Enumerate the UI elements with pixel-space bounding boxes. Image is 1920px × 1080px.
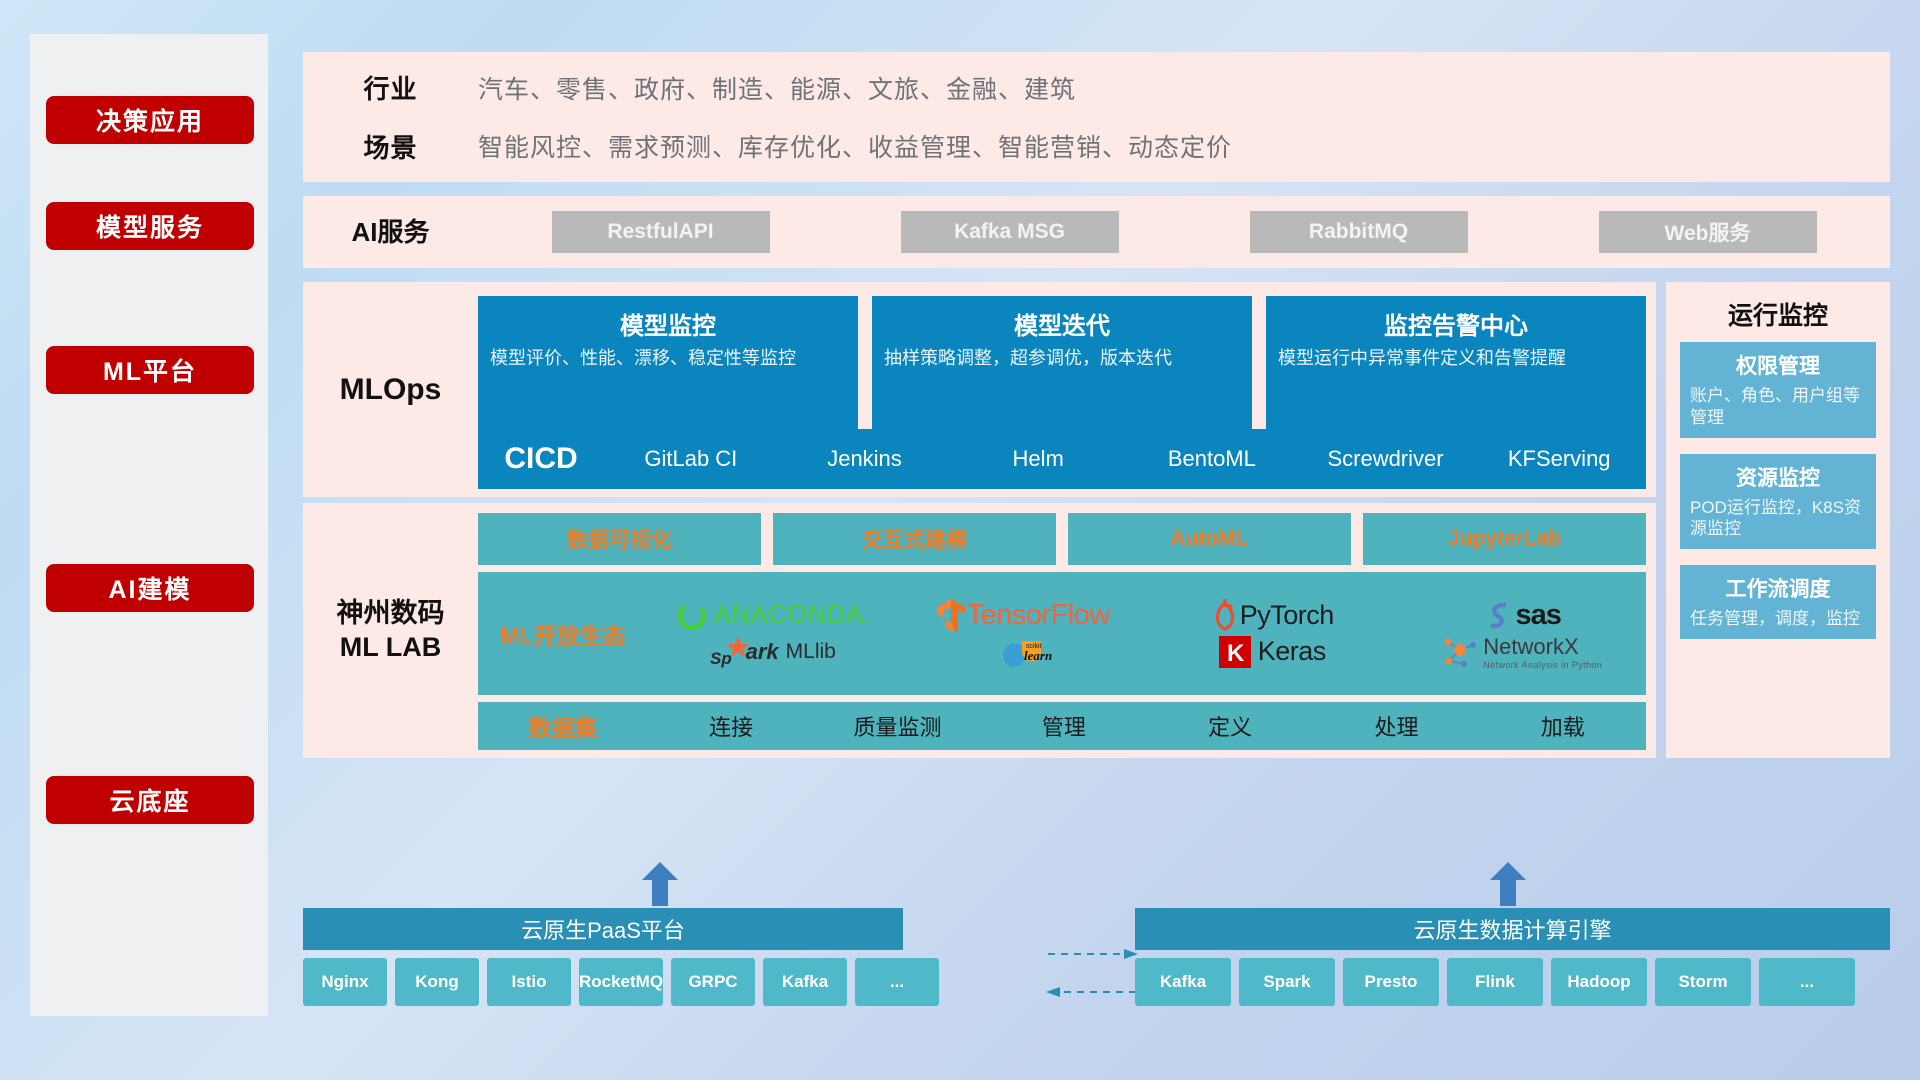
card-desc: 模型运行中异常事件定义和告警提醒 (1278, 347, 1634, 370)
chip-label: Flink (1475, 973, 1515, 991)
rail-item-label: 模型服务 (96, 208, 204, 244)
mlops-band: MLOps 模型监控 模型评价、性能、漂移、稳定性等监控 模型迭代 抽样策略调整… (303, 282, 1656, 497)
engine-chip-spark[interactable]: Spark (1239, 958, 1335, 1006)
cicd-item-gitlab-ci[interactable]: GitLab CI (604, 446, 778, 471)
chip-label: Nginx (321, 973, 368, 991)
paas-chips: Nginx Kong Istio RocketMQ GRPC Kafka ... (303, 958, 939, 1006)
monitor-card-resource[interactable]: 资源监控 POD运行监控，K8S资源监控 (1680, 454, 1876, 550)
networkx-wordmark: NetworkX (1483, 634, 1578, 660)
card-desc: POD运行监控，K8S资源监控 (1690, 497, 1866, 541)
chip-label: Web服务 (1665, 217, 1751, 247)
scenario-label: 场景 (363, 128, 417, 165)
card-title: 模型监控 (490, 306, 846, 341)
dataset-item-define[interactable]: 定义 (1147, 710, 1313, 742)
lab-tool-jupyterlab[interactable]: JupyterLab (1363, 513, 1646, 565)
chip-label: Kafka (782, 973, 828, 991)
paas-platform-bar[interactable]: 云原生PaaS平台 (303, 908, 903, 950)
sas-logo: sas (1482, 599, 1561, 633)
chip-label: ... (890, 973, 904, 991)
chip-label: RabbitMQ (1309, 220, 1408, 244)
ai-service-chip-restfulapi[interactable]: RestfulAPI (552, 211, 770, 253)
ai-service-label: AI服务 (303, 216, 478, 249)
tool-label: 数据可视化 (567, 524, 672, 554)
rail-item-ai-modeling[interactable]: AI建模 (46, 564, 254, 612)
lab-tool-interactive-modeling[interactable]: 交互式建模 (773, 513, 1056, 565)
lab-tool-automl[interactable]: AutoML (1068, 513, 1351, 565)
tensorflow-logo: TensorFlow (935, 598, 1110, 634)
anaconda-wordmark: ANACONDA. (714, 601, 872, 630)
chip-label: Kafka (1160, 973, 1206, 991)
engine-chip-hadoop[interactable]: Hadoop (1551, 958, 1647, 1006)
svg-text:K: K (1227, 640, 1245, 667)
networkx-tagline: Network Analysis in Python (1483, 660, 1602, 670)
chip-label: ... (1800, 973, 1814, 991)
arrow-up-paas (640, 862, 680, 904)
sas-wordmark: sas (1516, 599, 1561, 632)
monitor-card-permission[interactable]: 权限管理 账户、角色、用户组等管理 (1680, 342, 1876, 438)
mlops-label: MLOps (303, 282, 478, 497)
tool-label: 交互式建模 (862, 524, 967, 554)
dataset-item-process[interactable]: 处理 (1313, 710, 1479, 742)
card-title: 权限管理 (1690, 350, 1866, 380)
industry-value: 汽车、零售、政府、制造、能源、文旅、金融、建筑 (478, 70, 1890, 106)
rail-item-label: 决策应用 (96, 102, 204, 138)
mlops-card-alert-center[interactable]: 监控告警中心 模型运行中异常事件定义和告警提醒 (1266, 296, 1646, 429)
rail-item-cloud-base[interactable]: 云底座 (46, 776, 254, 824)
decision-apps-values: 汽车、零售、政府、制造、能源、文旅、金融、建筑 智能风控、需求预测、库存优化、收… (478, 70, 1890, 164)
decision-apps-band: 行业 场景 汽车、零售、政府、制造、能源、文旅、金融、建筑 智能风控、需求预测、… (303, 52, 1890, 182)
data-compute-engine-label: 云原生数据计算引擎 (1413, 913, 1611, 945)
runtime-monitoring-panel: 运行监控 权限管理 账户、角色、用户组等管理 资源监控 POD运行监控，K8S资… (1666, 282, 1890, 758)
mlops-card-model-iteration[interactable]: 模型迭代 抽样策略调整，超参调优，版本迭代 (872, 296, 1252, 429)
arrow-up-data-engine (1488, 862, 1528, 904)
rail-item-ml-platform[interactable]: ML平台 (46, 346, 254, 394)
industry-label: 行业 (363, 69, 417, 106)
paas-chip-istio[interactable]: Istio (487, 958, 571, 1006)
chip-label: Spark (1263, 973, 1310, 991)
paas-chip-kafka[interactable]: Kafka (763, 958, 847, 1006)
engine-chip-flink[interactable]: Flink (1447, 958, 1543, 1006)
chip-label: Kong (415, 973, 458, 991)
scikit-learn-logo: scikit learn (1002, 635, 1042, 669)
tool-label: JupyterLab (1448, 527, 1561, 551)
cicd-item-kfserving[interactable]: KFServing (1472, 446, 1646, 471)
paas-chip-kong[interactable]: Kong (395, 958, 479, 1006)
runtime-monitoring-title: 运行监控 (1666, 282, 1890, 342)
rail-item-label: ML平台 (103, 352, 197, 388)
dataset-row: 数据集 连接 质量监测 管理 定义 处理 加载 (478, 702, 1646, 750)
scenario-value: 智能风控、需求预测、库存优化、收益管理、智能营销、动态定价 (478, 128, 1890, 164)
card-desc: 任务管理，调度，监控 (1690, 608, 1866, 630)
dataset-item-quality-monitoring[interactable]: 质量监测 (814, 710, 980, 742)
chip-label: Hadoop (1567, 973, 1630, 991)
cicd-item-bentoml[interactable]: BentoML (1125, 446, 1299, 471)
engine-chip-kafka[interactable]: Kafka (1135, 958, 1231, 1006)
rail-item-decision-apps[interactable]: 决策应用 (46, 96, 254, 144)
networkx-logo: NetworkX Network Analysis in Python (1440, 634, 1602, 670)
chip-label: Kafka MSG (954, 220, 1065, 244)
svg-text:Sp: Sp (710, 649, 732, 668)
chip-label: GRPC (688, 973, 737, 991)
paas-chip-more[interactable]: ... (855, 958, 939, 1006)
engine-chip-presto[interactable]: Presto (1343, 958, 1439, 1006)
ml-lab-label-line2: ML LAB (340, 631, 442, 665)
paas-chip-nginx[interactable]: Nginx (303, 958, 387, 1006)
rail-item-label: 云底座 (109, 782, 190, 818)
tool-label: AutoML (1170, 527, 1248, 551)
dataset-label: 数据集 (478, 709, 648, 743)
card-title: 模型迭代 (884, 306, 1240, 341)
card-desc: 模型评价、性能、漂移、稳定性等监控 (490, 347, 846, 370)
mlops-card-model-monitoring[interactable]: 模型监控 模型评价、性能、漂移、稳定性等监控 (478, 296, 858, 429)
dataset-item-manage[interactable]: 管理 (981, 710, 1147, 742)
chip-label: RestfulAPI (607, 220, 713, 244)
dataset-item-connect[interactable]: 连接 (648, 710, 814, 742)
rail-item-label: AI建模 (108, 570, 191, 606)
chip-label: Presto (1365, 973, 1418, 991)
data-compute-engine-bar[interactable]: 云原生数据计算引擎 (1135, 908, 1890, 950)
ai-service-chip-kafka-msg[interactable]: Kafka MSG (901, 211, 1119, 253)
cicd-row: CICD GitLab CI Jenkins Helm BentoML Scre… (478, 429, 1646, 489)
ml-lab-band: 神州数码 ML LAB 数据可视化 交互式建模 AutoML JupyterLa… (303, 503, 1656, 758)
chip-label: Istio (512, 973, 547, 991)
monitor-card-workflow[interactable]: 工作流调度 任务管理，调度，监控 (1680, 565, 1876, 639)
ml-ecosystem-label: ML开放生态 (478, 617, 648, 651)
anaconda-logo: ANACONDA. (674, 598, 872, 634)
paas-chip-grpc[interactable]: GRPC (671, 958, 755, 1006)
card-title: 监控告警中心 (1278, 306, 1634, 341)
dataset-item-load[interactable]: 加载 (1480, 710, 1646, 742)
lab-tool-data-visualization[interactable]: 数据可视化 (478, 513, 761, 565)
rail-item-model-service[interactable]: 模型服务 (46, 202, 254, 250)
cicd-item-jenkins[interactable]: Jenkins (778, 446, 952, 471)
spark-mllib-logo: Sp ark MLlib (710, 635, 836, 669)
ml-ecosystem-row: ML开放生态 ANACONDA. TensorFlo (478, 572, 1646, 695)
cicd-label: CICD (478, 442, 604, 476)
cicd-item-helm[interactable]: Helm (951, 446, 1125, 471)
card-title: 资源监控 (1690, 462, 1866, 492)
keras-logo: K Keras (1218, 635, 1326, 669)
card-desc: 抽样策略调整，超参调优，版本迭代 (884, 347, 1240, 370)
ml-lab-label-line1: 神州数码 (337, 597, 445, 631)
chip-label: Storm (1678, 973, 1727, 991)
ml-lab-label: 神州数码 ML LAB (303, 503, 478, 758)
keras-wordmark: Keras (1258, 636, 1326, 667)
svg-text:learn: learn (1024, 648, 1052, 663)
engine-chip-more[interactable]: ... (1759, 958, 1855, 1006)
ai-service-chip-web-service[interactable]: Web服务 (1599, 211, 1817, 253)
card-title: 工作流调度 (1690, 573, 1866, 603)
mllib-wordmark: MLlib (786, 640, 836, 664)
ai-service-chip-rabbitmq[interactable]: RabbitMQ (1250, 211, 1468, 253)
chip-label: RocketMQ (579, 973, 663, 991)
dashed-connectors (1046, 940, 1138, 1010)
pytorch-wordmark: PyTorch (1240, 600, 1334, 631)
decision-apps-labels: 行业 场景 (303, 69, 478, 165)
ai-service-band: AI服务 RestfulAPI Kafka MSG RabbitMQ Web服务 (303, 196, 1890, 268)
paas-chip-rocketmq[interactable]: RocketMQ (579, 958, 663, 1006)
left-rail: 决策应用 模型服务 ML平台 AI建模 云底座 (30, 34, 268, 1016)
pytorch-logo: PyTorch (1210, 599, 1334, 633)
data-engine-chips: Kafka Spark Presto Flink Hadoop Storm ..… (1135, 958, 1855, 1006)
paas-platform-label: 云原生PaaS平台 (521, 913, 685, 945)
card-desc: 账户、角色、用户组等管理 (1690, 385, 1866, 429)
tensorflow-wordmark: TensorFlow (967, 599, 1110, 632)
engine-chip-storm[interactable]: Storm (1655, 958, 1751, 1006)
cicd-item-screwdriver[interactable]: Screwdriver (1299, 446, 1473, 471)
